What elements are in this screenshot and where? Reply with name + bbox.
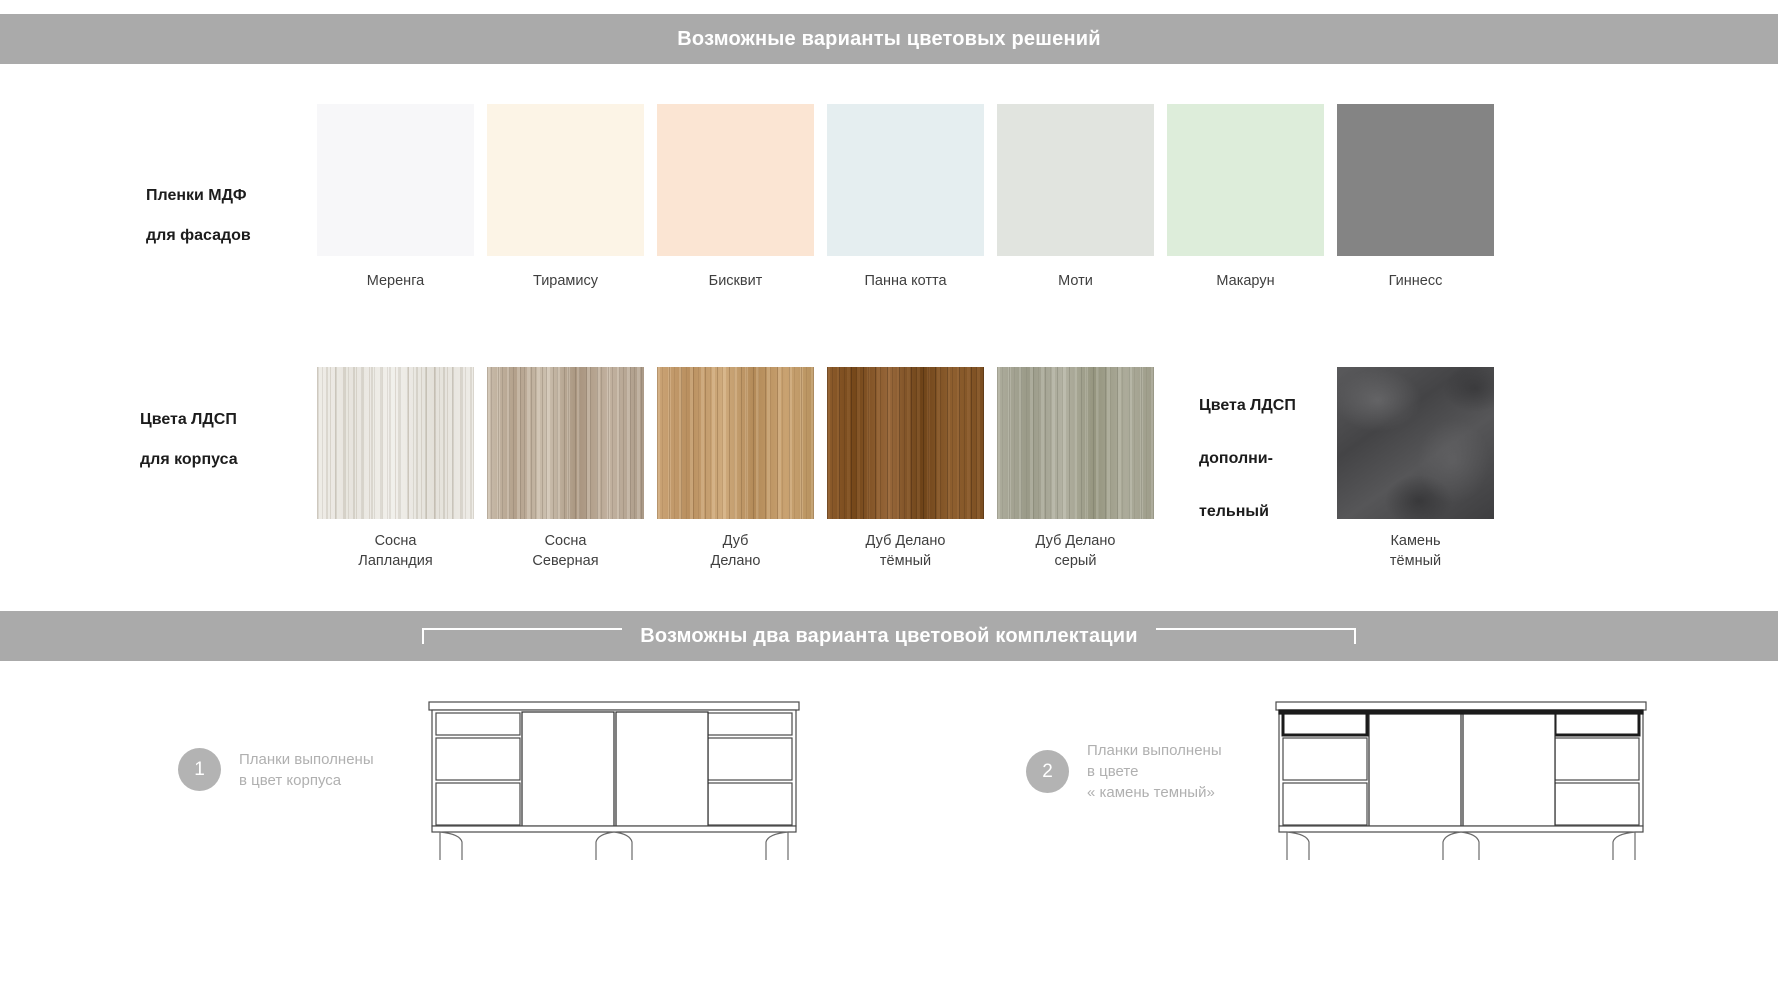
option-callout-1[interactable]: 1 Планки выполнены в цвет корпуса [178, 748, 374, 791]
swatch-row-spacer [1167, 367, 1324, 571]
sideboard-drawing-option-2 [1275, 700, 1647, 865]
header-banner-colors: Возможные варианты цветовых решений [0, 14, 1778, 64]
swatch-sosna-severnaya[interactable] [487, 367, 644, 519]
sideboard-drawing-option-1 [428, 700, 800, 865]
swatch-cell-ginness[interactable]: Гиннесс [1337, 104, 1494, 291]
option-badge-2: 2 [1026, 750, 1069, 793]
header-banner-configurations: Возможны два варианта цветовой комплекта… [0, 611, 1778, 661]
swatch-cell-moti[interactable]: Моти [997, 104, 1154, 291]
swatch-caption-dub-delano-sery: Дуб Делано серый [1036, 531, 1116, 571]
swatch-caption-biskvit: Бисквит [709, 271, 763, 291]
swatch-caption-ginness: Гиннесс [1389, 271, 1443, 291]
option-text-1: Планки выполнены в цвет корпуса [239, 749, 374, 791]
swatch-cell-tiramisu[interactable]: Тирамису [487, 104, 644, 291]
swatch-dub-delano[interactable] [657, 367, 814, 519]
swatch-kamen-temny[interactable] [1337, 367, 1494, 519]
swatch-caption-sosna-laplandiya: Сосна Лапландия [358, 531, 432, 571]
swatch-sosna-laplandiya[interactable] [317, 367, 474, 519]
swatch-caption-merenga: Меренга [367, 271, 424, 291]
swatch-caption-dub-delano-temny: Дуб Делано тёмный [866, 531, 946, 571]
swatch-cell-sosna-laplandiya[interactable]: Сосна Лапландия [317, 367, 474, 571]
swatch-cell-makarun[interactable]: Макарун [1167, 104, 1324, 291]
swatch-cell-dub-delano-temny[interactable]: Дуб Делано тёмный [827, 367, 984, 571]
row-label-mdf-films: Пленки МДФ для фасадов [146, 176, 251, 256]
option-callout-2[interactable]: 2 Планки выполнены в цвете « камень темн… [1026, 740, 1222, 803]
swatch-caption-kamen-temny: Камень тёмный [1390, 531, 1441, 571]
row-label-ldsp-body: Цвета ЛДСП для корпуса [140, 400, 238, 480]
sideboard-svg-2 [1275, 700, 1647, 860]
swatch-panna-kotta[interactable] [827, 104, 984, 256]
swatch-dub-delano-sery[interactable] [997, 367, 1154, 519]
swatch-caption-dub-delano: Дуб Делано [711, 531, 761, 571]
option-badge-1: 1 [178, 748, 221, 791]
option-text-2: Планки выполнены в цвете « камень темный… [1087, 740, 1222, 803]
banner-bracket-right-icon [1156, 628, 1356, 644]
swatch-cell-panna-kotta[interactable]: Панна котта [827, 104, 984, 291]
swatch-ginness[interactable] [1337, 104, 1494, 256]
swatch-cell-kamen-temny[interactable]: Камень тёмный [1337, 367, 1494, 571]
swatch-makarun[interactable] [1167, 104, 1324, 256]
header-banner-colors-title: Возможные варианты цветовых решений [677, 28, 1100, 51]
swatch-row-mdf: Меренга Тирамису Бисквит Панна котта Мот… [317, 104, 1494, 291]
swatch-biskvit[interactable] [657, 104, 814, 256]
swatch-tiramisu[interactable] [487, 104, 644, 256]
swatch-caption-moti: Моти [1058, 271, 1093, 291]
swatch-cell-merenga[interactable]: Меренга [317, 104, 474, 291]
swatch-caption-panna-kotta: Панна котта [864, 271, 946, 291]
swatch-caption-tiramisu: Тирамису [533, 271, 598, 291]
banner-bracket-left-icon [422, 628, 622, 644]
swatch-caption-sosna-severnaya: Сосна Северная [532, 531, 598, 571]
swatch-row-ldsp: Сосна Лапландия Сосна Северная Дуб Делан… [317, 367, 1494, 571]
swatch-merenga[interactable] [317, 104, 474, 256]
swatch-moti[interactable] [997, 104, 1154, 256]
swatch-cell-dub-delano[interactable]: Дуб Делано [657, 367, 814, 571]
swatch-cell-biskvit[interactable]: Бисквит [657, 104, 814, 291]
swatch-caption-makarun: Макарун [1216, 271, 1274, 291]
swatch-cell-dub-delano-sery[interactable]: Дуб Делано серый [997, 367, 1154, 571]
header-banner-configurations-title: Возможны два варианта цветовой комплекта… [640, 625, 1138, 648]
sideboard-svg-1 [428, 700, 800, 860]
swatch-cell-sosna-severnaya[interactable]: Сосна Северная [487, 367, 644, 571]
swatch-dub-delano-temny[interactable] [827, 367, 984, 519]
